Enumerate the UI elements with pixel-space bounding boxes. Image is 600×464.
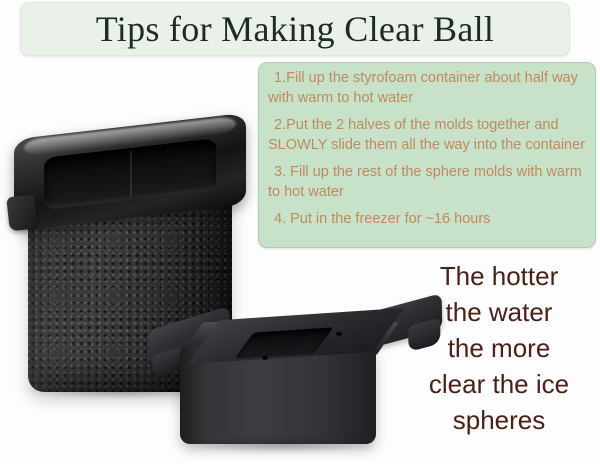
mold-fill-hole — [262, 356, 268, 360]
caption-line: clear the ice — [400, 366, 598, 402]
page-title-banner: Tips for Making Clear Ball — [20, 2, 570, 56]
instruction-step: 2.Put the 2 halves of the molds together… — [268, 116, 588, 155]
caption-line: The hotter — [400, 258, 598, 294]
mold-drop-shadow — [186, 438, 376, 452]
instruction-step: 1.Fill up the styrofoam container about … — [268, 69, 588, 108]
caption-line: spheres — [400, 402, 598, 438]
mold-fill-hole — [336, 332, 342, 336]
instructions-panel: 1.Fill up the styrofoam container about … — [258, 62, 596, 248]
instruction-step: 3. Fill up the rest of the sphere molds … — [268, 163, 588, 202]
caption-text-block: The hotter the water the more clear the … — [400, 258, 598, 438]
image-canvas: Tips for Making Clear Ball 1.Fill up the… — [0, 0, 600, 464]
caption-line: the water — [400, 294, 598, 330]
caption-line: the more — [400, 330, 598, 366]
container-opening-divider — [130, 151, 132, 197]
page-title: Tips for Making Clear Ball — [96, 9, 494, 49]
container-side-tab — [6, 195, 37, 232]
instruction-step: 4. Put in the freezer for ~16 hours — [268, 210, 588, 230]
